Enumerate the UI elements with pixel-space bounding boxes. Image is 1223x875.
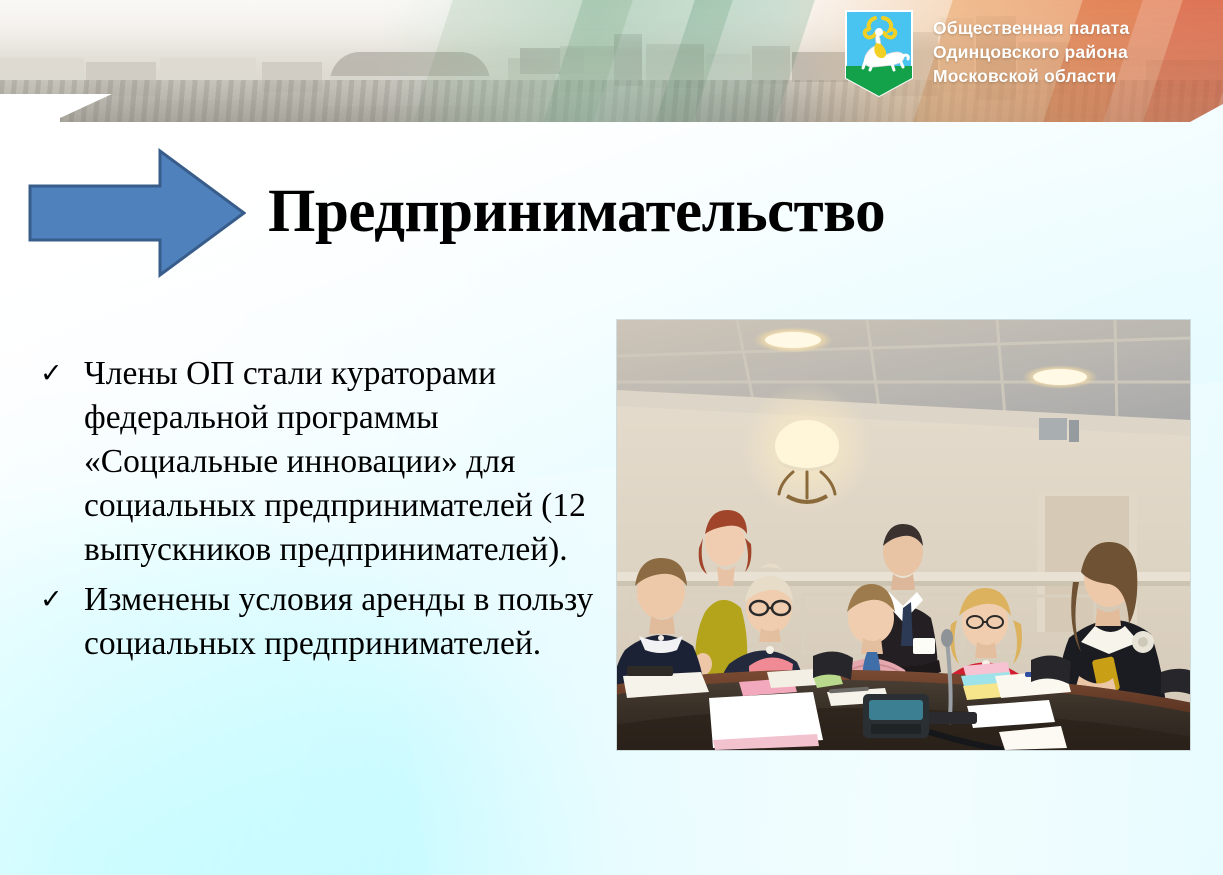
presentation-slide: Общественная палата Одинцовского района … bbox=[0, 0, 1223, 875]
org-line-2: Одинцовского района bbox=[933, 40, 1203, 64]
check-icon: ✓ bbox=[34, 352, 84, 396]
page-title: Предпринимательство bbox=[268, 176, 908, 248]
coat-of-arms-icon bbox=[845, 10, 913, 98]
check-icon: ✓ bbox=[34, 578, 84, 622]
organization-name: Общественная палата Одинцовского района … bbox=[933, 16, 1203, 88]
meeting-photo bbox=[617, 320, 1190, 750]
list-item-text: Изменены условия аренды в пользу социаль… bbox=[84, 578, 594, 666]
right-arrow-icon bbox=[28, 148, 246, 278]
org-line-3: Московской области bbox=[933, 64, 1203, 88]
list-item-text: Члены ОП стали кураторами федеральной пр… bbox=[84, 352, 594, 572]
org-line-1: Общественная палата bbox=[933, 16, 1203, 40]
list-item: ✓ Изменены условия аренды в пользу социа… bbox=[34, 578, 594, 666]
list-item: ✓ Члены ОП стали кураторами федеральной … bbox=[34, 352, 594, 572]
bullet-list: ✓ Члены ОП стали кураторами федеральной … bbox=[34, 352, 594, 672]
header-banner: Общественная палата Одинцовского района … bbox=[0, 0, 1223, 122]
